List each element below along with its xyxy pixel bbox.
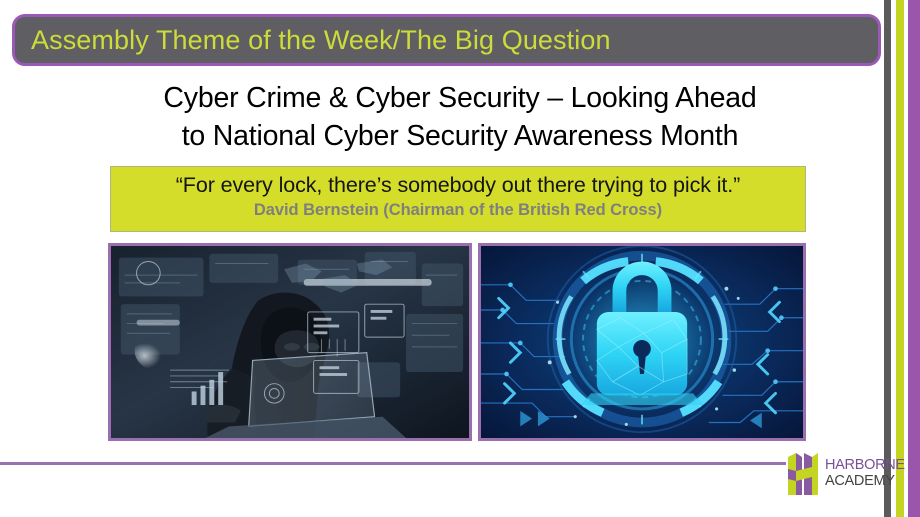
hacker-photo [108, 243, 472, 441]
assembly-theme-banner: Assembly Theme of the Week/The Big Quest… [12, 14, 881, 66]
quote-attribution: David Bernstein (Chairman of the British… [111, 199, 805, 221]
h-monogram-icon [786, 451, 820, 497]
page-title-line-1: Cyber Crime & Cyber Security – Looking A… [60, 80, 860, 118]
logo-line-harborne: HARBORNE [825, 458, 905, 473]
decor-stripe-gray [884, 0, 891, 517]
decor-stripe-purple [908, 0, 920, 517]
footer-divider [0, 462, 797, 465]
quote-text: “For every lock, there’s somebody out th… [111, 172, 805, 199]
page-title: Cyber Crime & Cyber Security – Looking A… [60, 80, 860, 156]
harborne-academy-logo: HARBORNE ACADEMY [786, 447, 884, 500]
slide-canvas: Assembly Theme of the Week/The Big Quest… [0, 0, 920, 517]
hacker-photo-illustration [111, 246, 469, 438]
quote-callout: “For every lock, there’s somebody out th… [110, 166, 806, 232]
banner-title: Assembly Theme of the Week/The Big Quest… [15, 27, 611, 54]
logo-wordmark: HARBORNE ACADEMY [825, 458, 905, 488]
padlock-photo [478, 243, 806, 441]
decor-stripe-lime [896, 0, 904, 517]
page-title-line-2: to National Cyber Security Awareness Mon… [60, 118, 860, 156]
logo-line-academy: ACADEMY [825, 474, 905, 489]
padlock-photo-illustration [481, 246, 803, 438]
